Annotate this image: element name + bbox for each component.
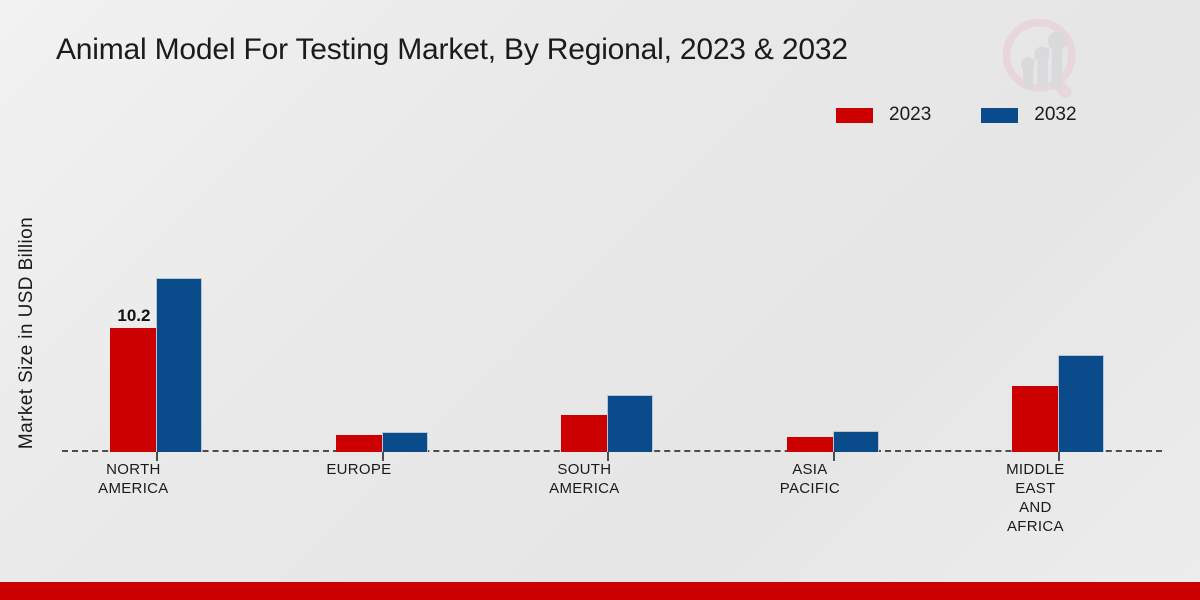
bar-middle-east-and-africa-2023[interactable] xyxy=(1012,386,1058,452)
bar-north-america-2032[interactable] xyxy=(156,278,202,452)
x-axis-label-middle-east-and-africa: MIDDLEEASTANDAFRICA xyxy=(967,460,1103,536)
bar-europe-2023[interactable] xyxy=(336,435,382,452)
x-axis-label-europe: EUROPE xyxy=(291,460,427,479)
legend-item-2023[interactable]: 2023 xyxy=(836,104,931,126)
bar-europe-2032[interactable] xyxy=(382,432,428,452)
y-axis-title: Market Size in USD Billion xyxy=(16,168,38,498)
bar-north-america-2023[interactable] xyxy=(110,328,156,452)
legend-swatch-2032 xyxy=(981,108,1018,123)
bar-south-america-2032[interactable] xyxy=(607,395,653,452)
bar-south-america-2023[interactable] xyxy=(561,415,607,452)
legend-label-2023: 2023 xyxy=(889,104,931,126)
x-axis-category-labels: NORTHAMERICA EUROPE SOUTHAMERICA ASIAPAC… xyxy=(62,460,1162,570)
x-axis-label-north-america: NORTHAMERICA xyxy=(65,460,201,498)
legend-item-2032[interactable]: 2032 xyxy=(981,104,1076,126)
chart-title: Animal Model For Testing Market, By Regi… xyxy=(56,33,848,67)
x-axis-label-south-america: SOUTHAMERICA xyxy=(516,460,652,498)
watermark-logo-icon xyxy=(996,12,1092,108)
legend-swatch-2023 xyxy=(836,108,873,123)
bar-asia-pacific-2032[interactable] xyxy=(833,431,879,452)
bar-middle-east-and-africa-2032[interactable] xyxy=(1058,355,1104,452)
legend-label-2032: 2032 xyxy=(1034,104,1076,126)
bottom-accent-strip xyxy=(0,582,1200,600)
chart-legend: 2023 2032 xyxy=(836,104,1077,126)
plot-area: 10.2 xyxy=(62,150,1162,452)
bar-asia-pacific-2023[interactable] xyxy=(787,437,833,452)
x-axis-label-asia-pacific: ASIAPACIFIC xyxy=(742,460,878,498)
chart-canvas: Animal Model For Testing Market, By Regi… xyxy=(0,0,1200,600)
